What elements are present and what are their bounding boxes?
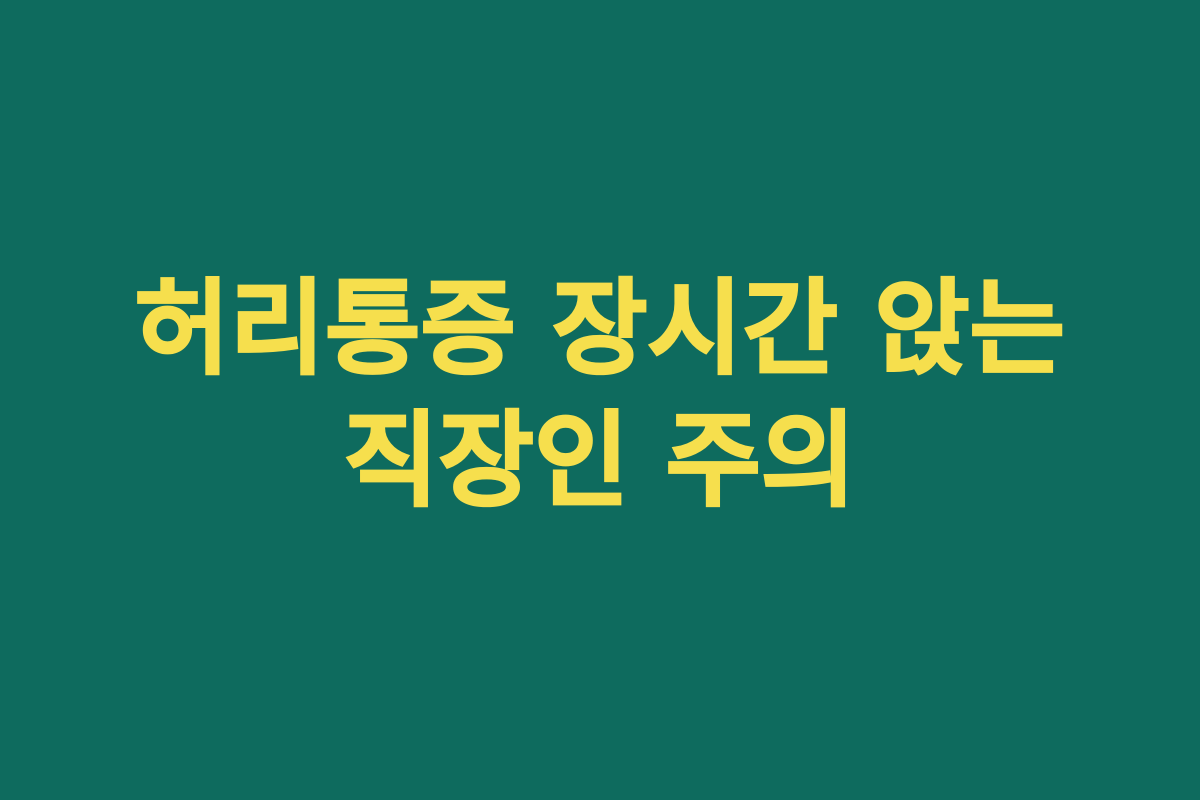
- headline-block: 허리통증 장시간 앉는 직장인 주의: [70, 263, 1130, 527]
- thumbnail-card: 허리통증 장시간 앉는 직장인 주의: [0, 0, 1200, 800]
- headline-text: 허리통증 장시간 앉는 직장인 주의: [80, 263, 1120, 527]
